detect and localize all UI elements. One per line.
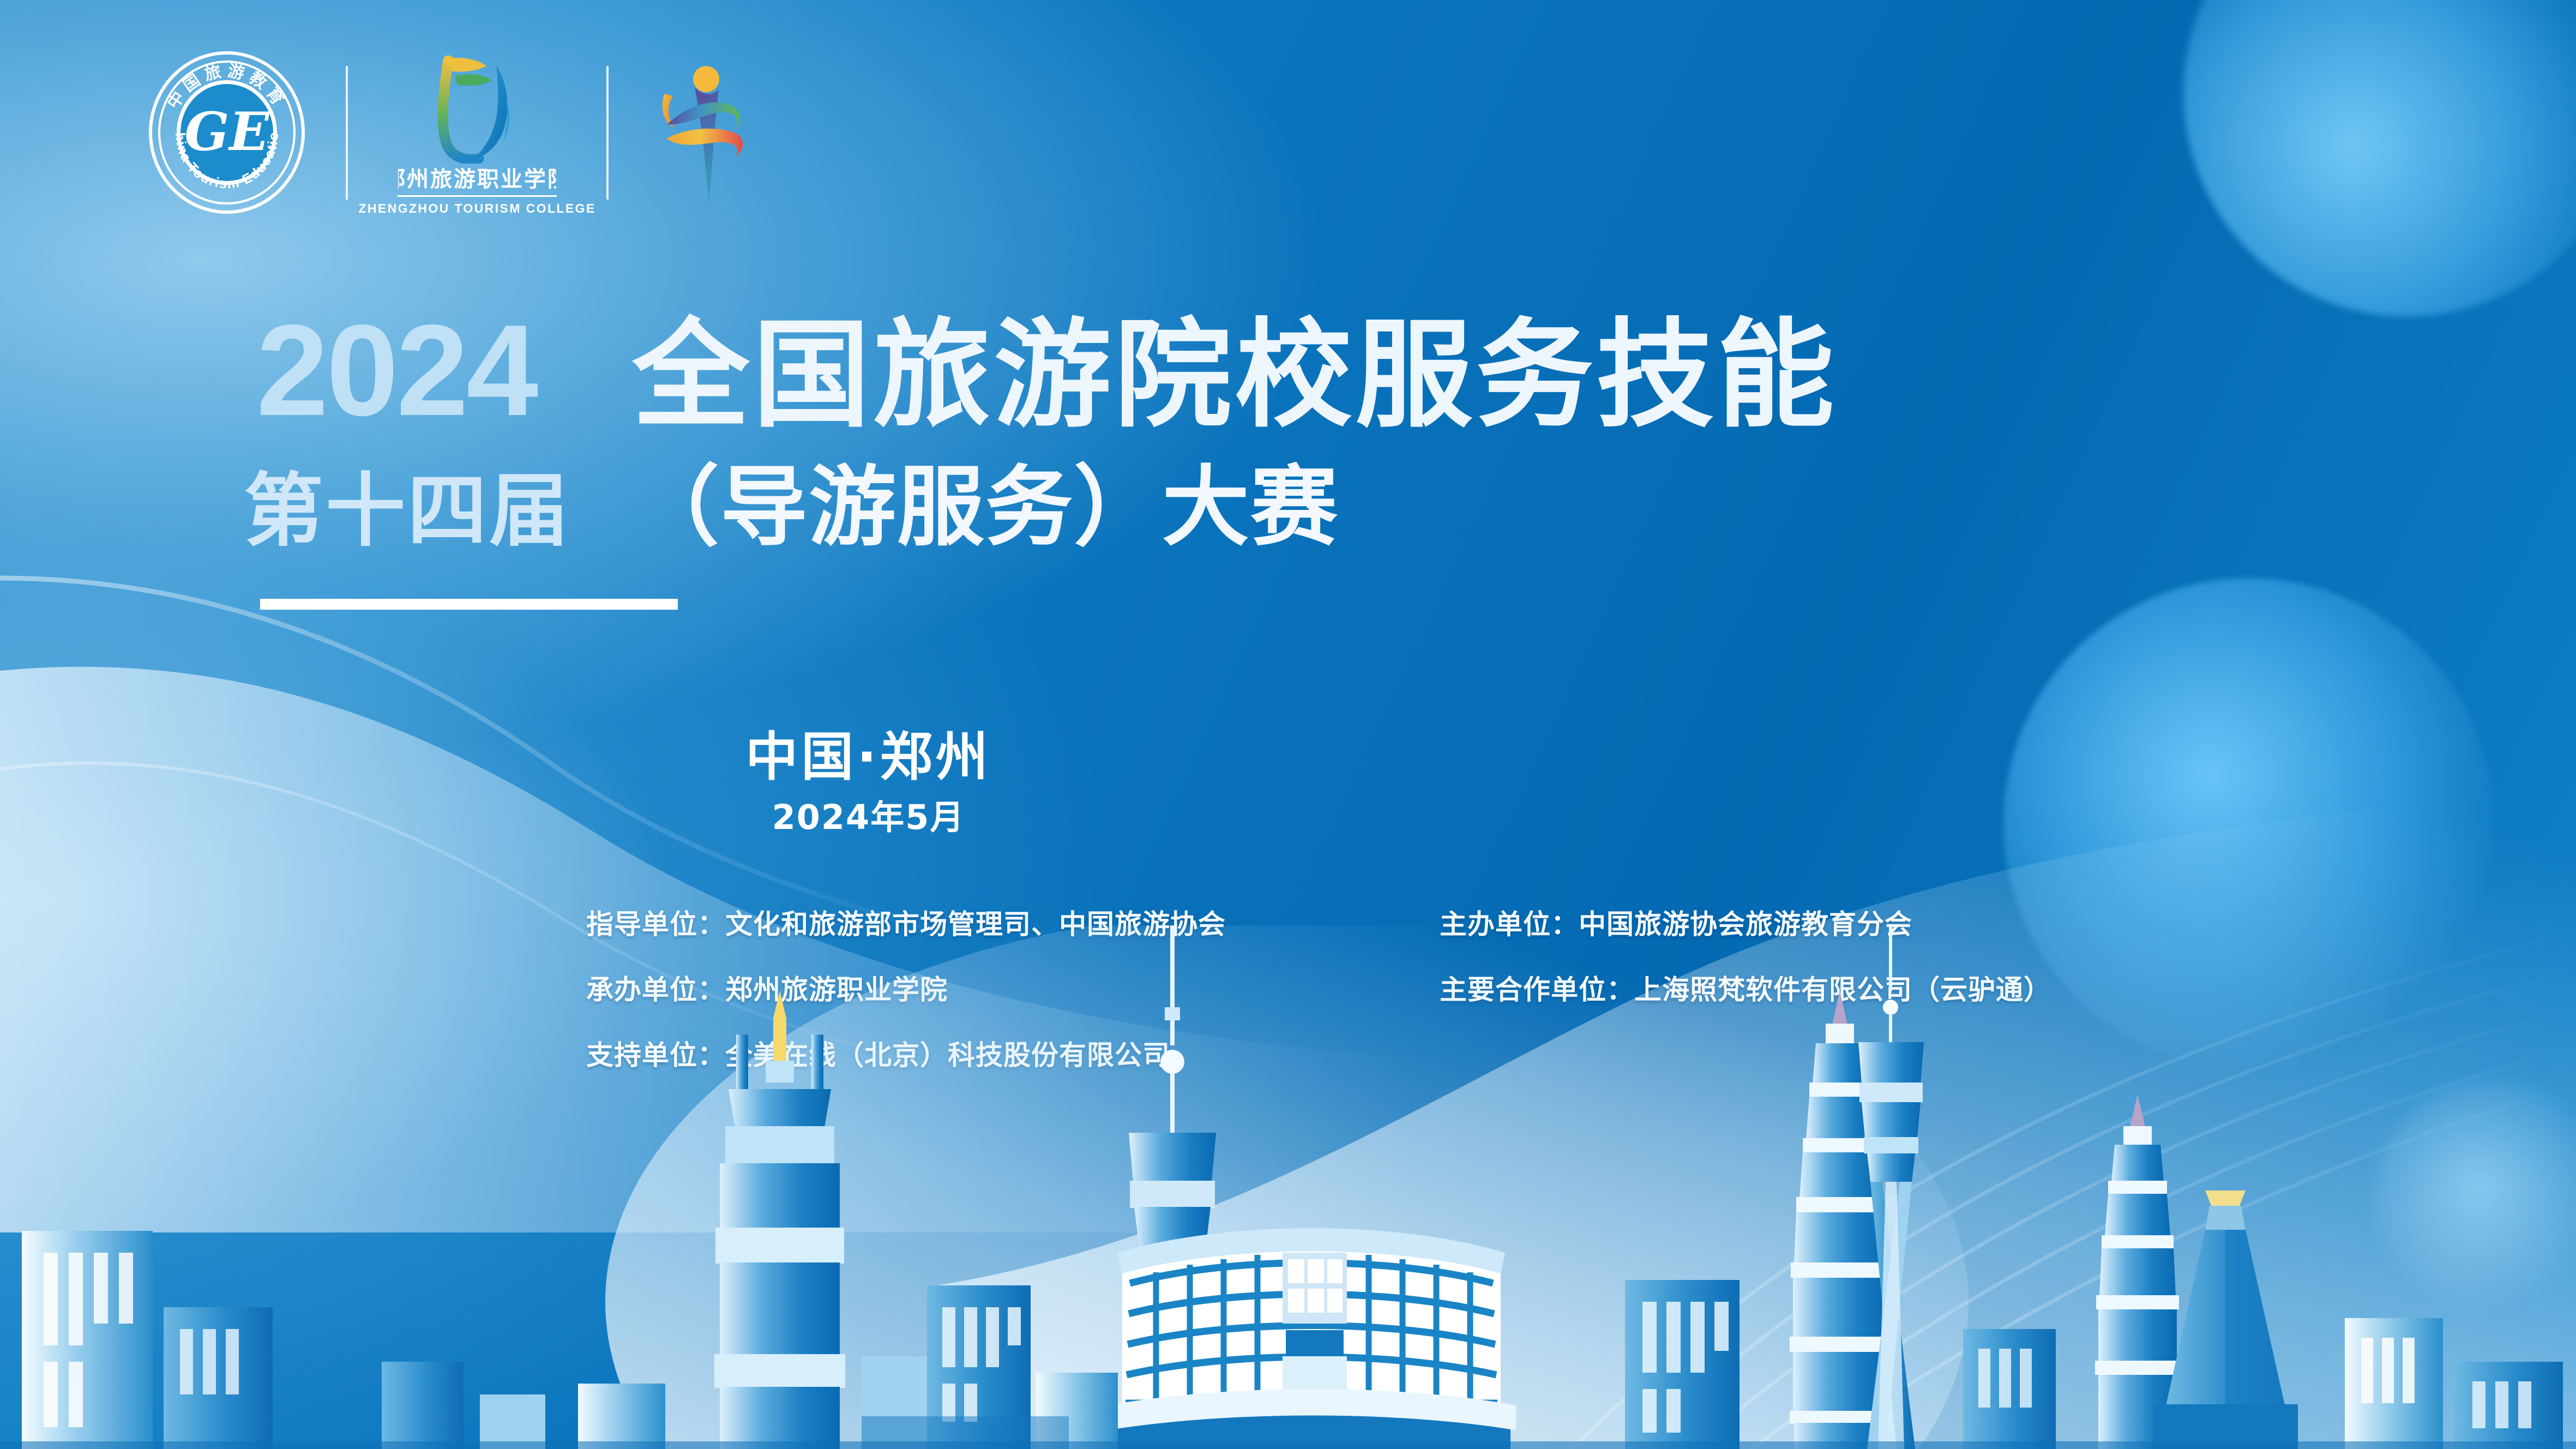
headline-underline-rule [260, 599, 678, 610]
credits-row: 承办单位：郑州旅游职业学院 主要合作单位：上海照梵软件有限公司（云驴通） [586, 968, 2222, 1007]
event-ribbon-figure-logo-icon [648, 53, 746, 212]
logo-bar: 中国旅游教育 China Tourism Education GE [147, 48, 746, 217]
event-ordinal: 第十四届 [244, 471, 571, 551]
china-tourism-education-seal-icon: 中国旅游教育 China Tourism Education GE [147, 51, 306, 214]
poster-canvas: 中国旅游教育 China Tourism Education GE [0, 0, 2576, 1449]
credit-empty [1440, 1033, 2222, 1073]
credits-row: 指导单位：文化和旅游部市场管理司、中国旅游协会 主办单位：中国旅游协会旅游教育分… [586, 903, 2222, 942]
event-title-sub: （导游服务）大赛 [632, 464, 1339, 551]
event-date: 2024年5月 [0, 790, 1737, 839]
background-blob-bottom-right [2374, 1080, 2576, 1314]
headline-line-1: 2024 全国旅游院校服务技能 [0, 297, 2345, 431]
ztc-underline [398, 195, 557, 197]
headline-block: 2024 全国旅游院校服务技能 第十四届 （导游服务）大赛 [0, 297, 2345, 551]
ztc-english-name: ZHENGZHOU TOURISM COLLEGE [358, 201, 595, 216]
credits-row: 支持单位：全美在线（北京）科技股份有限公司 [586, 1033, 2222, 1073]
ztc-flying-mark-icon [414, 52, 540, 164]
logo-divider-2 [606, 66, 609, 200]
ztc-chinese-name: 郑州旅游职业学院 [398, 165, 556, 193]
credit-organizer-unit: 承办单位：郑州旅游职业学院 [586, 968, 1440, 1007]
svg-text:郑州旅游职业学院: 郑州旅游职业学院 [398, 167, 556, 192]
headline-line-2: 第十四届 （导游服务）大赛 [0, 454, 2345, 551]
event-title-main: 全国旅游院校服务技能 [632, 320, 1837, 431]
credit-host-unit: 主办单位：中国旅游协会旅游教育分会 [1440, 903, 2222, 942]
event-place: 中国·郑州 [0, 714, 1737, 790]
credits-block: 指导单位：文化和旅游部市场管理司、中国旅游协会 主办单位：中国旅游协会旅游教育分… [586, 903, 2222, 1073]
event-year: 2024 [256, 311, 536, 431]
svg-text:GE: GE [184, 101, 270, 163]
zhengzhou-tourism-college-logo: 郑州旅游职业学院 ZHENGZHOU TOURISM COLLEGE [387, 50, 567, 216]
credit-partner-unit: 主要合作单位：上海照梵软件有限公司（云驴通） [1440, 968, 2222, 1007]
credit-support-unit: 支持单位：全美在线（北京）科技股份有限公司 [586, 1033, 1440, 1073]
background-blob-top-right [2183, 0, 2576, 316]
background-light-sweep-right [927, 753, 2576, 1449]
logo-divider-1 [346, 66, 348, 200]
credit-guidance-unit: 指导单位：文化和旅游部市场管理司、中国旅游协会 [586, 903, 1440, 942]
